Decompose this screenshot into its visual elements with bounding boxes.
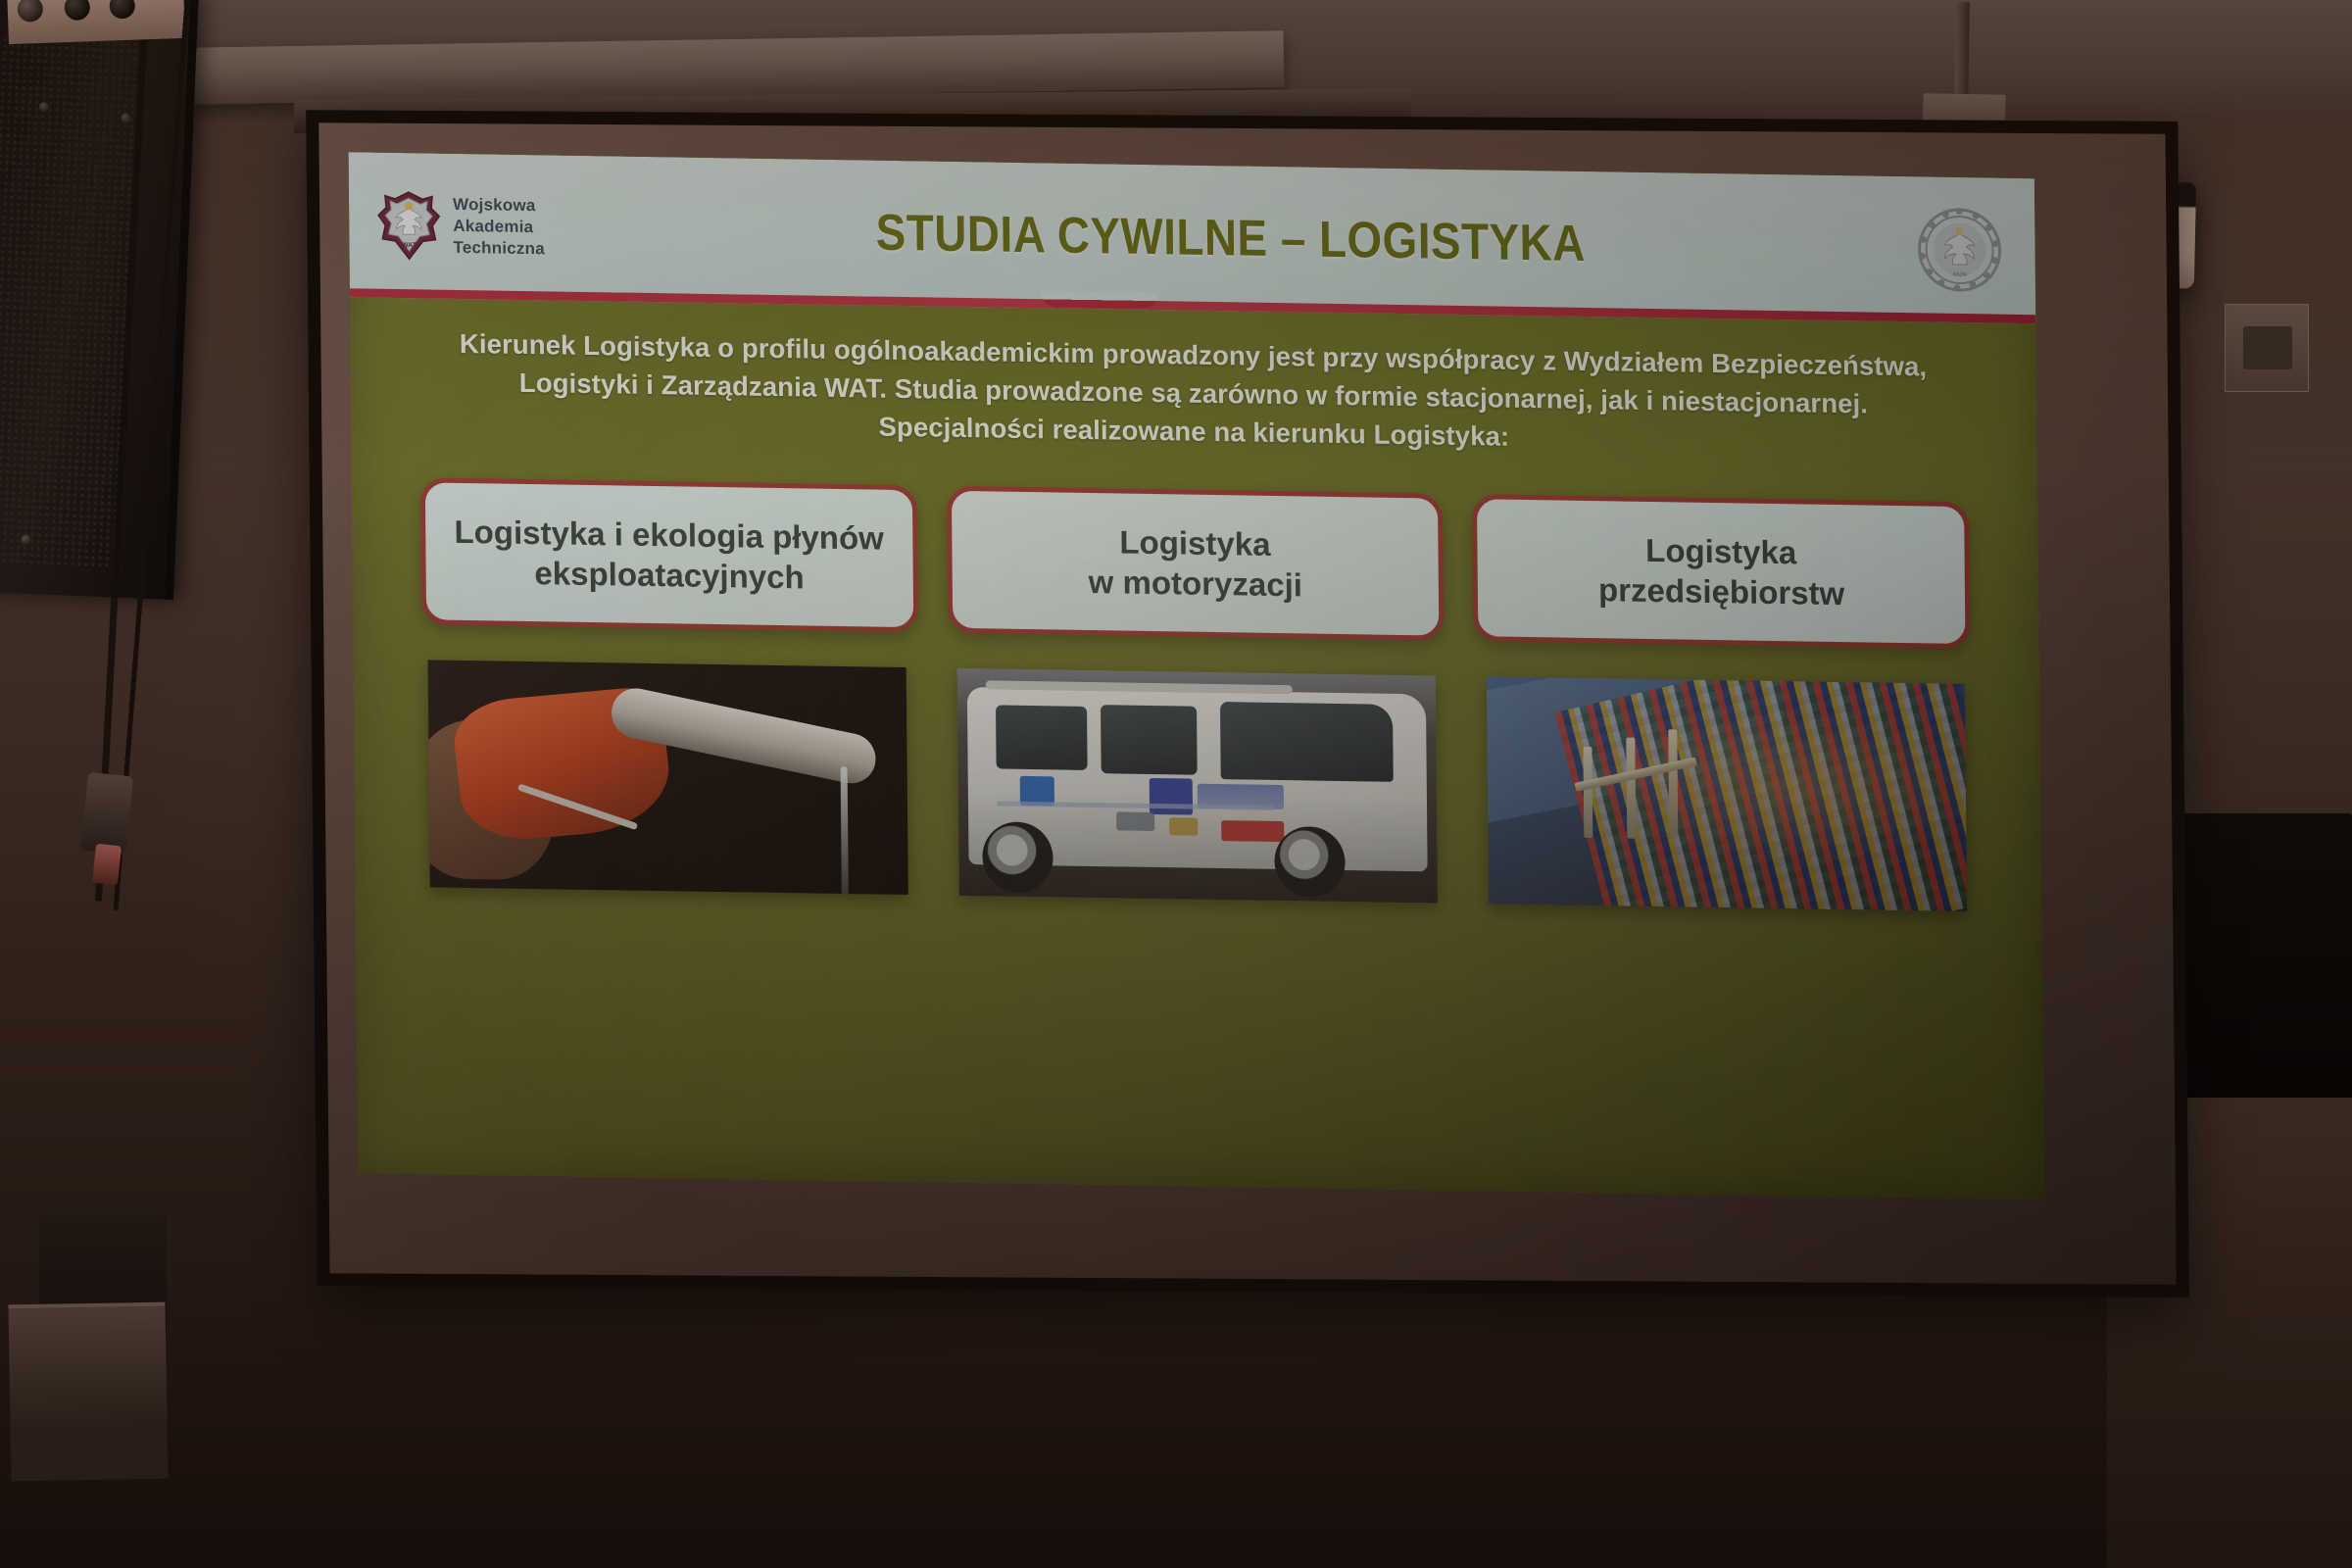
specialization-card-1-label: Logistyka i ekologia płynów eksploatacyj… <box>443 511 896 599</box>
its-logo-decal <box>1150 778 1193 815</box>
amp-top-panel <box>7 0 185 44</box>
cable-plug-housing <box>80 772 133 855</box>
specialization-card-3-label: Logistykaprzedsiębiorstw <box>1597 529 1844 614</box>
projection-screen-surface: WAT Wojskowa Akademia Techniczna STUDIA … <box>318 122 2176 1284</box>
projection-screen-frame: WAT Wojskowa Akademia Techniczna STUDIA … <box>306 110 2189 1298</box>
slide-body: Kierunek Logistyka o profilu ogólnoakade… <box>350 297 2041 912</box>
instrumented-van-photo <box>957 668 1438 904</box>
wat-logo-line1: Wojskowa <box>453 194 545 217</box>
floor-desk <box>8 1302 168 1482</box>
fuel-drip-shape <box>840 766 848 895</box>
seal-label: MON <box>1953 272 1967 278</box>
specialization-cards: Logistyka i ekologia płynów eksploatacyj… <box>420 477 1971 649</box>
amp-knob[interactable] <box>17 0 43 23</box>
lecture-room-scene: WAT Wojskowa Akademia Techniczna STUDIA … <box>0 0 2352 1568</box>
presentation-slide: WAT Wojskowa Akademia Techniczna STUDIA … <box>349 152 2044 1200</box>
container-port-photo <box>1487 676 1967 911</box>
amp-knob[interactable] <box>109 0 135 20</box>
amp-knob[interactable] <box>64 0 90 21</box>
slide-paragraph: Kierunek Logistyka o profilu ogólnoakade… <box>443 324 1943 463</box>
specialization-card-1[interactable]: Logistyka i ekologia płynów eksploatacyj… <box>420 477 918 632</box>
port-light-glow <box>1487 676 1967 911</box>
specialization-photos <box>428 661 1968 912</box>
wat-logo: WAT Wojskowa Akademia Techniczna <box>376 190 545 264</box>
wat-logo-line3: Techniczna <box>453 237 545 260</box>
wall-control-plate[interactable] <box>2225 304 2309 392</box>
wat-crest-icon: WAT <box>376 190 442 262</box>
wat-logo-line2: Akademia <box>453 216 545 238</box>
van-window-shape <box>996 706 1087 770</box>
van-window-shape <box>1101 705 1197 774</box>
specialization-card-3[interactable]: Logistykaprzedsiębiorstw <box>1472 494 1970 649</box>
slide-title: STUDIA CYWILNE – LOGISTYKA <box>626 200 1835 277</box>
sponsor-decal <box>1116 811 1154 830</box>
svg-text:WAT: WAT <box>402 242 417 249</box>
specialization-card-2[interactable]: Logistykaw motoryzacji <box>947 486 1445 641</box>
van-windshield-shape <box>1220 702 1393 782</box>
specialization-card-2-label: Logistykaw motoryzacji <box>1088 521 1302 607</box>
fuel-nozzle-photo <box>428 661 908 896</box>
ministry-seal-icon: MON <box>1917 207 2002 292</box>
sponsor-decal <box>1169 817 1198 836</box>
slide-header: WAT Wojskowa Akademia Techniczna STUDIA … <box>349 152 2036 323</box>
wat-logo-text: Wojskowa Akademia Techniczna <box>453 194 545 260</box>
cable-plug-tip <box>92 844 122 885</box>
amg2-decal <box>1222 820 1285 842</box>
monitor-rear <box>2166 813 2352 1107</box>
